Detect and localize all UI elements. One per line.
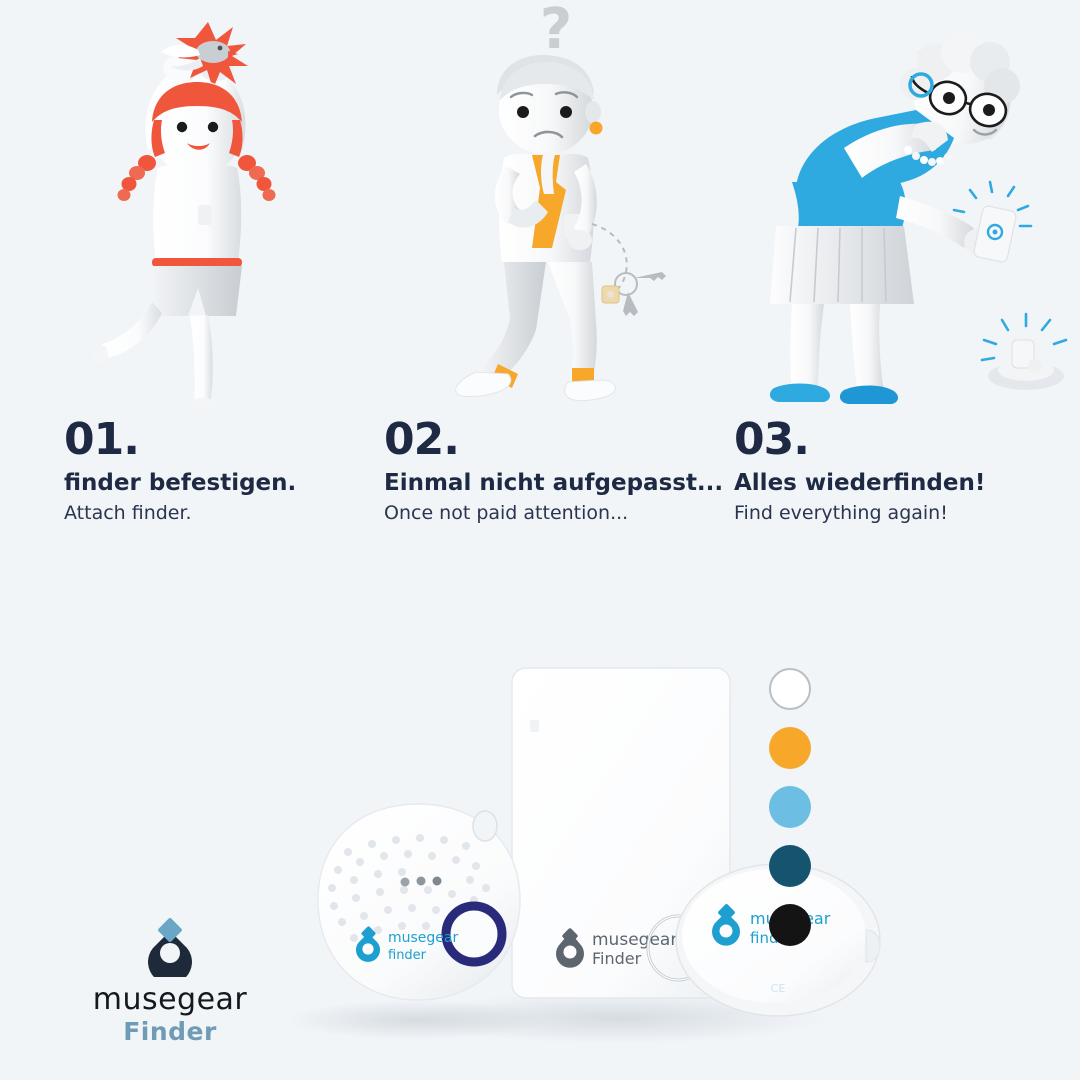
step-1-title-de: finder befestigen.: [64, 470, 364, 496]
swatch-white[interactable]: [769, 668, 811, 710]
step-3-number: 03.: [734, 418, 1074, 462]
step-2-title-en: Once not paid attention...: [384, 502, 724, 525]
illustration-girl-raising-finder: [30, 0, 390, 410]
step-3-text: 03. Alles wiederfinden! Find everything …: [734, 418, 1074, 525]
brand-name: musegear: [60, 985, 280, 1015]
step-card-1: 01. finder befestigen. Attach finder.: [0, 0, 360, 560]
brand-sub: Finder: [60, 1019, 280, 1044]
swatch-light-blue[interactable]: [769, 786, 811, 828]
ce-marking: CE: [771, 982, 786, 995]
step-1-title-en: Attach finder.: [64, 502, 364, 525]
step-1-number: 01.: [64, 418, 364, 462]
svg-text:?: ?: [540, 0, 572, 62]
square-finder: musegear finder: [318, 804, 520, 1000]
square-logo-bottom: finder: [388, 948, 427, 963]
question-mark-icon: ?: [540, 0, 572, 62]
step-card-2: ?: [360, 0, 720, 560]
swatch-dark-teal[interactable]: [769, 845, 811, 887]
droplet-ring-icon: [141, 915, 199, 977]
color-swatch-list[interactable]: [769, 668, 811, 946]
step-1-text: 01. finder befestigen. Attach finder.: [64, 418, 364, 525]
card-logo-bottom: Finder: [592, 949, 642, 968]
promo-page: 01. finder befestigen. Attach finder.: [0, 0, 1080, 1080]
swatch-black[interactable]: [769, 904, 811, 946]
found-item-icon: [982, 314, 1066, 390]
phone-signal-icon: [954, 182, 1031, 263]
step-3-title-de: Alles wiederfinden!: [734, 470, 1074, 496]
steps-row: 01. finder befestigen. Attach finder.: [0, 0, 1080, 560]
braid-left: [118, 155, 157, 201]
swatch-orange[interactable]: [769, 727, 811, 769]
step-2-title-de: Einmal nicht aufgepasst...: [384, 470, 724, 496]
braid-right: [238, 155, 276, 201]
step-card-3: 03. Alles wiederfinden! Find everything …: [720, 0, 1080, 560]
falling-keys-icon: [602, 272, 666, 316]
illustration-woman-finding-phone: [740, 0, 1080, 410]
illustration-man-dropping-keys: ?: [380, 0, 740, 410]
brand-logo: musegear Finder: [60, 915, 280, 1044]
card-logo-top: musegear: [592, 930, 677, 950]
step-3-title-en: Find everything again!: [734, 502, 1074, 525]
step-2-number: 02.: [384, 418, 724, 462]
square-logo-top: musegear: [388, 930, 458, 946]
step-2-text: 02. Einmal nicht aufgepasst... Once not …: [384, 418, 724, 525]
